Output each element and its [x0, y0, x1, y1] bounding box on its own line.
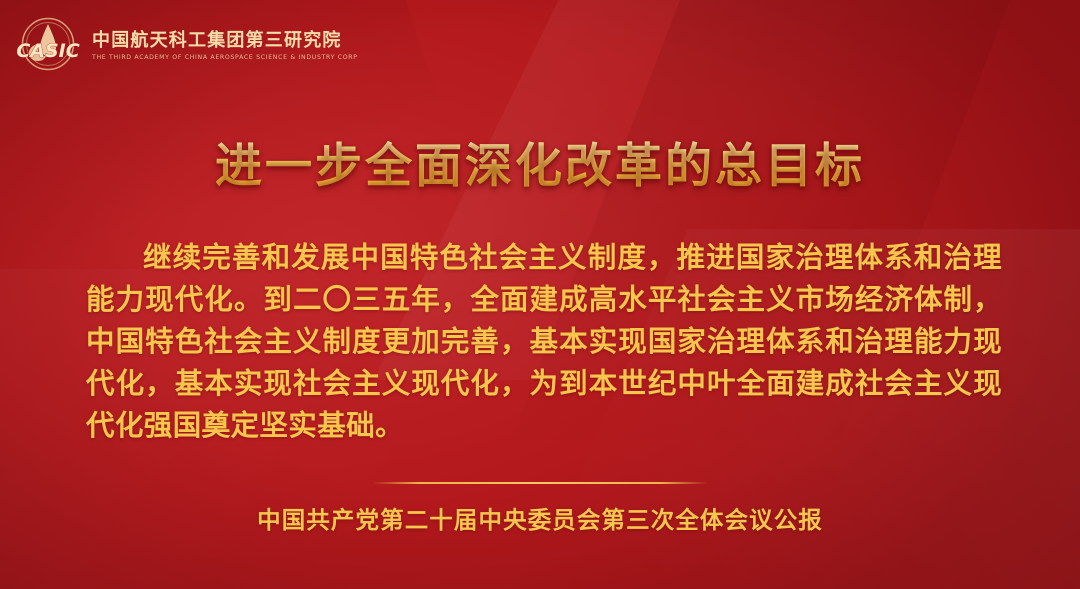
- brand-text-block: 中国航天科工集团第三研究院 THE THIRD ACADEMY OF CHINA…: [92, 29, 358, 62]
- casic-emblem-icon: CASIC: [16, 14, 80, 76]
- source-attribution: 中国共产党第二十届中央委员会第三次全体会议公报: [257, 501, 823, 535]
- brand-header: CASIC 中国航天科工集团第三研究院 THE THIRD ACADEMY OF…: [16, 14, 358, 76]
- poster-canvas: CASIC 中国航天科工集团第三研究院 THE THIRD ACADEMY OF…: [0, 0, 1080, 589]
- page-title: 进一步全面深化改革的总目标: [0, 139, 1080, 195]
- body-paragraph: 继续完善和发展中国特色社会主义制度，推进国家治理体系和治理能力现代化。到二〇三五…: [86, 237, 1002, 447]
- org-name-en: THE THIRD ACADEMY OF CHINA AEROSPACE SCI…: [92, 54, 358, 61]
- org-name-cn: 中国航天科工集团第三研究院: [92, 31, 358, 52]
- footer-divider: [372, 482, 708, 484]
- svg-text:CASIC: CASIC: [16, 40, 79, 62]
- footer-block: 中国共产党第二十届中央委员会第三次全体会议公报: [0, 482, 1080, 535]
